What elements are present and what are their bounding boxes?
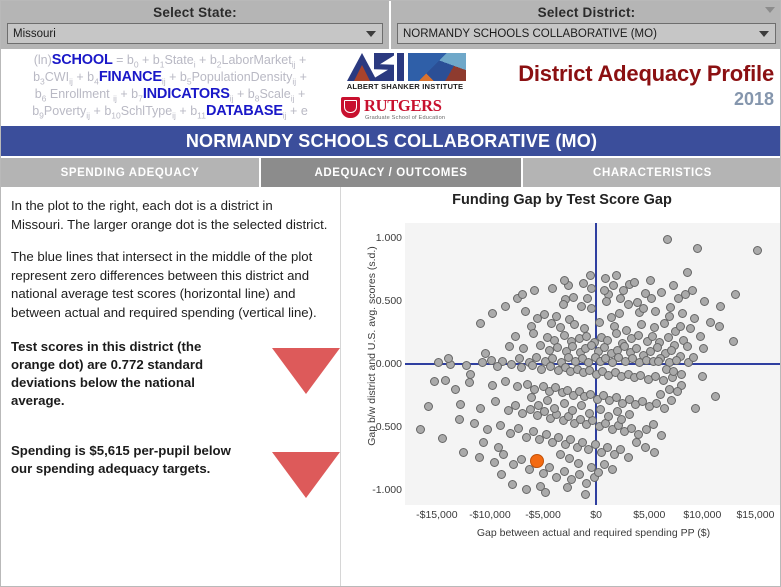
district-dot[interactable] bbox=[577, 302, 586, 311]
district-dot[interactable] bbox=[669, 281, 678, 290]
formula-line-1: (ln)SCHOOL = b0 + b1Statei + b2LaborMark… bbox=[5, 52, 335, 69]
district-dot[interactable] bbox=[430, 377, 439, 386]
chevron-down-icon bbox=[759, 31, 769, 37]
district-dot[interactable] bbox=[659, 376, 668, 385]
district-dot[interactable] bbox=[511, 332, 520, 341]
rutgers-logo: RUTGERS Graduate School of Education bbox=[341, 96, 481, 124]
district-dot[interactable] bbox=[633, 298, 642, 307]
district-dot[interactable] bbox=[530, 286, 539, 295]
district-dot[interactable] bbox=[491, 397, 500, 406]
district-dot[interactable] bbox=[508, 480, 517, 489]
chart-y-axis-ticks: 1.0000.5000.000-0.500-1.000 bbox=[342, 223, 402, 505]
district-dot[interactable] bbox=[595, 318, 604, 327]
district-dot[interactable] bbox=[547, 319, 556, 328]
district-dot[interactable] bbox=[583, 294, 592, 303]
district-dot[interactable] bbox=[545, 463, 554, 472]
district-dot[interactable] bbox=[490, 458, 499, 467]
district-dot[interactable] bbox=[665, 385, 674, 394]
district-dot[interactable] bbox=[660, 404, 669, 413]
district-dot[interactable] bbox=[624, 300, 633, 309]
rutgers-logo-subtext: Graduate School of Education bbox=[365, 115, 445, 121]
albert-shanker-institute-logo: ALBERT SHANKER INSTITUTE bbox=[341, 53, 469, 93]
district-dot[interactable] bbox=[517, 455, 526, 464]
district-dot[interactable] bbox=[456, 400, 465, 409]
district-dot[interactable] bbox=[566, 435, 575, 444]
chart-x-tick-label: -$15,000 bbox=[416, 509, 457, 521]
district-dot[interactable] bbox=[479, 438, 488, 447]
district-dot[interactable] bbox=[678, 309, 687, 318]
district-dot[interactable] bbox=[511, 401, 520, 410]
district-dot[interactable] bbox=[478, 358, 487, 367]
district-dot[interactable] bbox=[565, 454, 574, 463]
down-triangle-icon bbox=[272, 452, 340, 498]
district-dot[interactable] bbox=[517, 363, 526, 372]
district-dot[interactable] bbox=[514, 424, 523, 433]
chart-y-tick-label: 1.000 bbox=[344, 232, 402, 244]
district-adequacy-profile-app: Select State: Missouri Select District: … bbox=[0, 0, 781, 587]
district-dot[interactable] bbox=[634, 331, 643, 340]
district-dot[interactable] bbox=[441, 376, 450, 385]
district-dot[interactable] bbox=[630, 278, 639, 287]
district-dot[interactable] bbox=[518, 290, 527, 299]
district-dot[interactable] bbox=[501, 377, 510, 386]
state-select[interactable]: Missouri bbox=[7, 23, 383, 44]
chart-x-tick-label: -$10,000 bbox=[469, 509, 510, 521]
district-dot[interactable] bbox=[608, 465, 617, 474]
district-name-banner: NORMANDY SCHOOLS COLLABORATIVE (MO) bbox=[1, 126, 781, 156]
district-dot[interactable] bbox=[693, 244, 702, 253]
district-dot[interactable] bbox=[494, 443, 503, 452]
district-dot[interactable] bbox=[496, 421, 505, 430]
spending-callout-text: Spending is $5,615 per-pupil below our s… bbox=[11, 442, 243, 478]
state-selector-panel: Select State: Missouri bbox=[1, 1, 391, 49]
formula-line-3: b6 Enrollment ij + b7INDICATORSij + b8Sc… bbox=[5, 86, 335, 103]
district-dot[interactable] bbox=[513, 382, 522, 391]
chart-plot-area[interactable] bbox=[405, 223, 781, 505]
district-dot[interactable] bbox=[451, 385, 460, 394]
district-dot[interactable] bbox=[488, 381, 497, 390]
chart-y-tick-label: -1.000 bbox=[344, 484, 402, 496]
district-dot[interactable] bbox=[530, 385, 539, 394]
district-dot[interactable] bbox=[700, 297, 709, 306]
district-dot[interactable] bbox=[616, 445, 625, 454]
district-dot[interactable] bbox=[455, 415, 464, 424]
district-select[interactable]: NORMANDY SCHOOLS COLLABORATIVE (MO) bbox=[397, 23, 776, 44]
spending-callout: Spending is $5,615 per-pupil below our s… bbox=[11, 442, 328, 478]
explanation-panel: In the plot to the right, each dot is a … bbox=[1, 187, 341, 587]
district-dot[interactable] bbox=[706, 318, 715, 327]
chart-x-axis-ticks: -$15,000-$10,000-$5,000$0$5,000$10,000$1… bbox=[405, 509, 781, 525]
district-dot[interactable] bbox=[651, 307, 660, 316]
district-dot[interactable] bbox=[488, 309, 497, 318]
district-dot[interactable] bbox=[650, 448, 659, 457]
district-dot[interactable] bbox=[570, 320, 579, 329]
district-name-text: NORMANDY SCHOOLS COLLABORATIVE (MO) bbox=[186, 131, 597, 152]
chart-y-tick-label: -0.500 bbox=[344, 421, 402, 433]
district-dot[interactable] bbox=[559, 300, 568, 309]
tab-spending-adequacy-label: SPENDING ADEQUACY bbox=[61, 167, 200, 179]
district-dot[interactable] bbox=[699, 344, 708, 353]
district-dot[interactable] bbox=[434, 358, 443, 367]
content-area: In the plot to the right, each dot is a … bbox=[1, 187, 781, 587]
school-finance-formula-logo: (ln)SCHOOL = b0 + b1Statei + b2LaborMark… bbox=[5, 52, 335, 120]
district-dot[interactable] bbox=[641, 289, 650, 298]
district-dot[interactable] bbox=[646, 276, 655, 285]
district-dot[interactable] bbox=[519, 344, 528, 353]
district-dot[interactable] bbox=[507, 360, 516, 369]
district-dot[interactable] bbox=[416, 425, 425, 434]
chart-x-axis-label: Gap between actual and required spending… bbox=[405, 527, 781, 539]
district-dot[interactable] bbox=[656, 390, 665, 399]
district-dot[interactable] bbox=[625, 410, 634, 419]
district-dot[interactable] bbox=[585, 409, 594, 418]
explanation-paragraph-1: In the plot to the right, each dot is a … bbox=[11, 197, 328, 234]
asi-mark-icon bbox=[341, 53, 469, 81]
scatter-chart-panel: Funding Gap by Test Score Gap Gap b/w di… bbox=[342, 187, 781, 587]
district-dot[interactable] bbox=[683, 268, 692, 277]
district-dot[interactable] bbox=[505, 342, 514, 351]
district-dot[interactable] bbox=[509, 460, 518, 469]
rutgers-shield-icon bbox=[341, 97, 360, 118]
district-dot[interactable] bbox=[604, 412, 613, 421]
page-year: 2018 bbox=[734, 89, 774, 110]
district-dot[interactable] bbox=[615, 309, 624, 318]
state-select-value: Missouri bbox=[13, 28, 56, 40]
district-dot[interactable] bbox=[529, 329, 538, 338]
formula-line-2: b3CWIij + b4FINANCEij + b5PopulationDens… bbox=[5, 69, 335, 86]
district-dot[interactable] bbox=[711, 392, 720, 401]
district-dot[interactable] bbox=[577, 401, 586, 410]
district-dot[interactable] bbox=[499, 450, 508, 459]
district-dot[interactable] bbox=[560, 399, 569, 408]
district-dot[interactable] bbox=[689, 353, 698, 362]
district-dot[interactable] bbox=[729, 337, 738, 346]
district-dot[interactable] bbox=[612, 271, 621, 280]
district-dot[interactable] bbox=[476, 319, 485, 328]
formula-line-4: b9Povertyij + b10SchlTypeij + b11DATABAS… bbox=[5, 103, 335, 120]
district-dot[interactable] bbox=[622, 326, 631, 335]
rutgers-logo-text: RUTGERS bbox=[364, 96, 442, 116]
down-triangle-icon bbox=[272, 348, 340, 394]
tab-bar: SPENDING ADEQUACY ADEQUACY / OUTCOMES CH… bbox=[1, 158, 781, 187]
district-dot[interactable] bbox=[501, 302, 510, 311]
district-dot[interactable] bbox=[522, 485, 531, 494]
district-dot[interactable] bbox=[609, 281, 618, 290]
district-dot[interactable] bbox=[716, 302, 725, 311]
district-select-value: NORMANDY SCHOOLS COLLABORATIVE (MO) bbox=[403, 28, 657, 40]
district-selector-panel: Select District: NORMANDY SCHOOLS COLLAB… bbox=[391, 1, 781, 49]
district-dot[interactable] bbox=[596, 405, 605, 414]
district-dot[interactable] bbox=[715, 322, 724, 331]
district-dot[interactable] bbox=[470, 419, 479, 428]
district-dot[interactable] bbox=[696, 332, 705, 341]
logo-band: (ln)SCHOOL = b0 + b1Statei + b2LaborMark… bbox=[1, 49, 781, 126]
selector-bar: Select State: Missouri Select District: … bbox=[1, 1, 781, 49]
chart-x-tick-label: $5,000 bbox=[633, 509, 665, 521]
district-dot[interactable] bbox=[676, 322, 685, 331]
district-dot[interactable] bbox=[569, 293, 578, 302]
chart-x-tick-label: $15,000 bbox=[736, 509, 774, 521]
district-dot[interactable] bbox=[660, 319, 669, 328]
header-chevron-down-icon[interactable] bbox=[765, 7, 775, 13]
district-dot[interactable] bbox=[459, 448, 468, 457]
district-dot[interactable] bbox=[521, 307, 530, 316]
chart-x-tick-label: $10,000 bbox=[683, 509, 721, 521]
district-dot[interactable] bbox=[686, 324, 695, 333]
district-dot[interactable] bbox=[657, 288, 666, 297]
district-dot[interactable] bbox=[673, 387, 682, 396]
district-dot[interactable] bbox=[624, 453, 633, 462]
page-title: District Adequacy Profile bbox=[518, 61, 774, 87]
district-dot[interactable] bbox=[574, 459, 583, 468]
plot-wrapper: Gap b/w district and U.S. avg. scores (s… bbox=[342, 215, 781, 587]
district-dot[interactable] bbox=[548, 284, 557, 293]
district-dot[interactable] bbox=[657, 431, 666, 440]
chart-x-tick-label: $0 bbox=[590, 509, 602, 521]
district-dot[interactable] bbox=[483, 425, 492, 434]
district-dot[interactable] bbox=[462, 361, 471, 370]
district-dot[interactable] bbox=[690, 314, 699, 323]
district-dot[interactable] bbox=[550, 404, 559, 413]
district-dot[interactable] bbox=[601, 274, 610, 283]
district-dot[interactable] bbox=[637, 320, 646, 329]
district-dot[interactable] bbox=[475, 453, 484, 462]
tab-spending-adequacy[interactable]: SPENDING ADEQUACY bbox=[1, 158, 261, 187]
district-dot[interactable] bbox=[465, 378, 474, 387]
tab-characteristics[interactable]: CHARACTERISTICS bbox=[523, 158, 781, 187]
chart-x-tick-label: -$5,000 bbox=[525, 509, 561, 521]
district-dot[interactable] bbox=[666, 303, 675, 312]
district-dot[interactable] bbox=[667, 396, 676, 405]
district-dot[interactable] bbox=[528, 361, 537, 370]
district-dot[interactable] bbox=[650, 323, 659, 332]
district-dot[interactable] bbox=[731, 290, 740, 299]
district-dot[interactable] bbox=[506, 429, 515, 438]
district-dot[interactable] bbox=[674, 294, 683, 303]
district-dot[interactable] bbox=[560, 467, 569, 476]
district-dot[interactable] bbox=[568, 406, 577, 415]
chevron-down-icon bbox=[366, 31, 376, 37]
district-dot[interactable] bbox=[543, 396, 552, 405]
district-dot[interactable] bbox=[582, 479, 591, 488]
district-dot[interactable] bbox=[691, 404, 700, 413]
district-selector-label: Select District: bbox=[397, 4, 776, 23]
district-dot[interactable] bbox=[493, 362, 502, 371]
district-dot[interactable] bbox=[533, 314, 542, 323]
tab-adequacy-outcomes[interactable]: ADEQUACY / OUTCOMES bbox=[261, 158, 523, 187]
district-dot[interactable] bbox=[581, 490, 590, 499]
district-dot[interactable] bbox=[438, 434, 447, 443]
district-dot[interactable] bbox=[476, 404, 485, 413]
district-dot[interactable] bbox=[753, 246, 762, 255]
tab-characteristics-label: CHARACTERISTICS bbox=[593, 167, 712, 179]
asi-logo-text: ALBERT SHANKER INSTITUTE bbox=[341, 82, 469, 91]
district-dot[interactable] bbox=[607, 313, 616, 322]
explanation-paragraph-2: The blue lines that intersect in the mid… bbox=[11, 248, 328, 322]
district-dot[interactable] bbox=[563, 483, 572, 492]
district-dot[interactable] bbox=[556, 450, 565, 459]
test-score-callout-text: Test scores in this district (the orange… bbox=[11, 338, 243, 410]
district-dot[interactable] bbox=[586, 271, 595, 280]
chart-y-tick-label: 0.500 bbox=[344, 295, 402, 307]
district-dot[interactable] bbox=[663, 235, 672, 244]
test-score-callout: Test scores in this district (the orange… bbox=[11, 338, 328, 410]
state-selector-label: Select State: bbox=[7, 4, 383, 23]
district-dot[interactable] bbox=[698, 372, 707, 381]
district-dot[interactable] bbox=[575, 470, 584, 479]
district-dot[interactable] bbox=[683, 342, 692, 351]
district-dot[interactable] bbox=[602, 297, 611, 306]
district-dot[interactable] bbox=[466, 370, 475, 379]
district-dot[interactable] bbox=[527, 393, 536, 402]
selected-district-dot[interactable] bbox=[530, 454, 544, 468]
chart-y-tick-label: 0.000 bbox=[344, 358, 402, 370]
district-dot[interactable] bbox=[641, 443, 650, 452]
district-dot[interactable] bbox=[649, 420, 658, 429]
tab-adequacy-outcomes-label: ADEQUACY / OUTCOMES bbox=[314, 167, 467, 179]
chart-title: Funding Gap by Test Score Gap bbox=[342, 192, 781, 208]
district-dot[interactable] bbox=[632, 438, 641, 447]
district-dot[interactable] bbox=[667, 346, 676, 355]
district-dot[interactable] bbox=[612, 329, 621, 338]
district-dot[interactable] bbox=[536, 341, 545, 350]
district-dot[interactable] bbox=[497, 470, 506, 479]
district-dot[interactable] bbox=[424, 402, 433, 411]
